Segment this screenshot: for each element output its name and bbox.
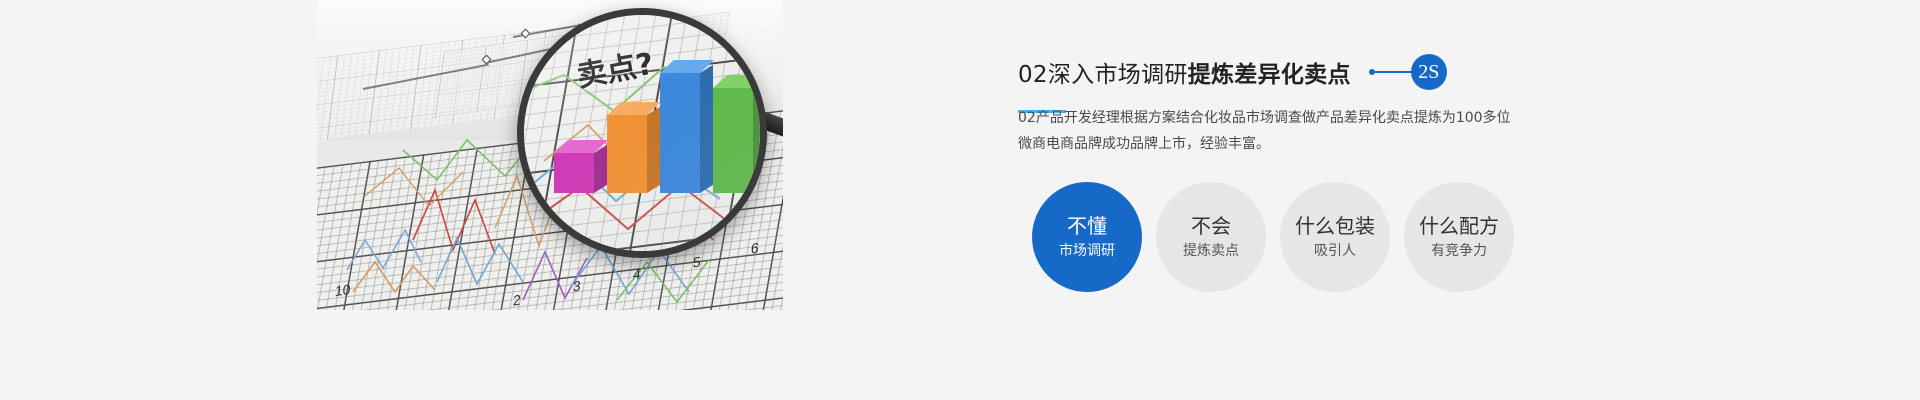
section-header: 02深入市场调研提炼差异化卖点 2S xyxy=(1018,52,1447,92)
bubble-title: 不懂 xyxy=(1067,214,1107,239)
bubble-title: 什么配方 xyxy=(1419,214,1499,239)
bubble-subtitle: 市场调研 xyxy=(1059,243,1115,261)
bubble-subtitle: 吸引人 xyxy=(1314,243,1356,261)
axis-number: 10 xyxy=(335,281,352,299)
step-badge: 2S xyxy=(1411,54,1447,90)
bubble-subtitle: 有竞争力 xyxy=(1431,243,1487,261)
axis-number: 2 xyxy=(512,291,521,308)
content-panel: 02深入市场调研提炼差异化卖点 2S 02产品开发经理根据方案结合化妆品市场调查… xyxy=(1018,0,1578,400)
bubble-item-0[interactable]: 不懂 市场调研 xyxy=(1032,182,1142,292)
body-copy: 02产品开发经理根据方案结合化妆品市场调查做产品差异化卖点提炼为100多位 微商… xyxy=(1018,105,1518,157)
title-lead: 深入市场调研 xyxy=(1048,62,1188,88)
axis-number: 3 xyxy=(572,277,581,294)
bar-magenta xyxy=(554,153,594,193)
bubble-subtitle: 提炼卖点 xyxy=(1183,243,1239,261)
magnifier-lens: 卖点? xyxy=(517,8,767,258)
bar-green xyxy=(713,88,753,193)
title-strong: 提炼差异化卖点 xyxy=(1188,62,1351,88)
bar-orange xyxy=(607,115,647,193)
bubble-item-2[interactable]: 什么包装 吸引人 xyxy=(1280,182,1390,292)
bubble-title: 什么包装 xyxy=(1295,214,1375,239)
body-line-2: 微商电商品牌成功品牌上市，经验丰富。 xyxy=(1018,131,1518,157)
page-root: 10 2 3 4 5 6 xyxy=(0,0,1920,400)
bubble-item-3[interactable]: 什么配方 有竞争力 xyxy=(1404,182,1514,292)
bubble-title: 不会 xyxy=(1191,214,1231,239)
pain-point-bubbles: 不懂 市场调研 不会 提炼卖点 什么包装 吸引人 什么配方 有竞争力 xyxy=(1032,182,1514,292)
bar-blue xyxy=(660,73,700,193)
title-number: 02 xyxy=(1018,62,1048,88)
axis-number: 5 xyxy=(692,253,701,270)
body-line-1: 02产品开发经理根据方案结合化妆品市场调查做产品差异化卖点提炼为100多位 xyxy=(1018,105,1518,131)
illustration-image: 10 2 3 4 5 6 xyxy=(317,0,783,310)
bubble-item-1[interactable]: 不会 提炼卖点 xyxy=(1156,182,1266,292)
axis-number: 4 xyxy=(632,265,641,282)
page-title: 02深入市场调研提炼差异化卖点 xyxy=(1018,55,1351,89)
